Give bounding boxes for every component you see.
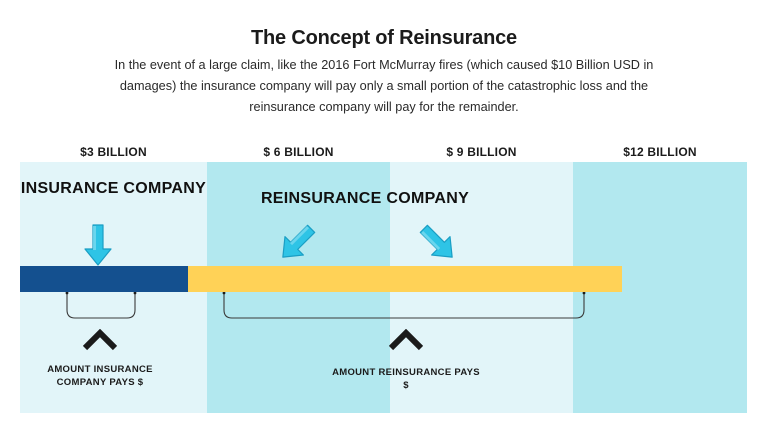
tier-label-6-billion: $ 6 BILLION (207, 145, 390, 159)
down-right-arrow-icon-reinsurance (417, 222, 459, 264)
tier-label-9-billion: $ 9 BILLION (390, 145, 573, 159)
reinsurance-infographic: The Concept of Reinsurance In the event … (0, 0, 768, 431)
caption-insurance-amount: AMOUNT INSURANCE COMPANY PAYS $ (25, 363, 175, 389)
tier-label-3-billion: $3 BILLION (20, 145, 207, 159)
caption-reinsurance-amount: AMOUNT REINSURANCE PAYS $ (331, 366, 481, 392)
page-description: In the event of a large claim, like the … (104, 55, 664, 118)
bracket-reinsurance (220, 292, 592, 322)
caret-up-icon-reinsurance (389, 329, 423, 351)
page-title: The Concept of Reinsurance (0, 27, 768, 50)
down-left-arrow-icon-reinsurance (276, 222, 318, 264)
bracket-insurance (63, 292, 139, 322)
bar-segment-reinsurance (188, 266, 622, 292)
caret-up-icon-insurance (83, 329, 117, 351)
reinsurance-company-heading: REINSURANCE COMPANY (207, 190, 523, 208)
down-arrow-icon-insurance (83, 224, 113, 268)
insurance-company-heading: INSURANCE COMPANY (20, 178, 207, 200)
tier-label-12-billion: $12 BILLION (573, 145, 747, 159)
money-bar (20, 266, 622, 292)
bar-segment-insurance (20, 266, 188, 292)
